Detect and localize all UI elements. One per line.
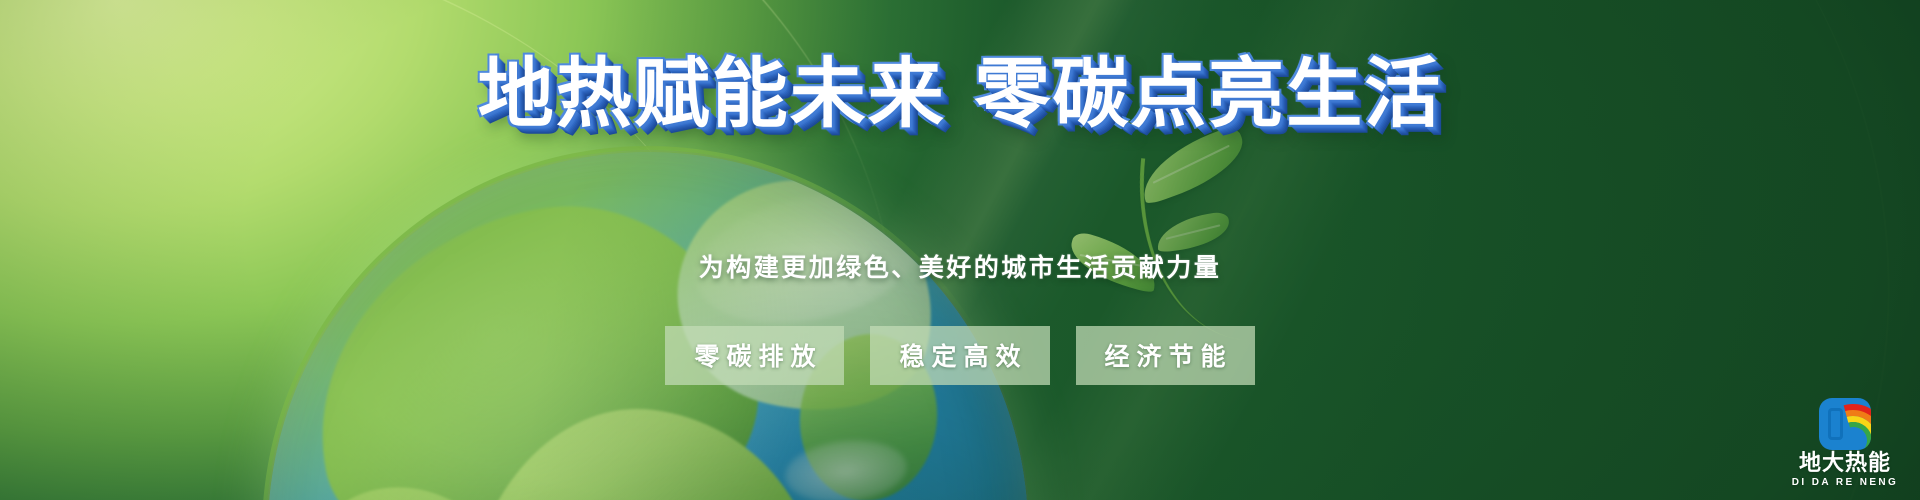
feature-badge-zero-carbon[interactable]: 零碳排放 xyxy=(665,326,844,385)
promo-banner: 地热赋能未来 零碳点亮生活 为构建更加绿色、美好的城市生活贡献力量 零碳排放 稳… xyxy=(0,0,1920,500)
feature-badge-stable-efficient[interactable]: 稳定高效 xyxy=(870,326,1049,385)
feature-badge-economic-saving[interactable]: 经济节能 xyxy=(1076,326,1255,385)
rainbow-arc-icon xyxy=(1819,398,1871,450)
banner-subtitle: 为构建更加绿色、美好的城市生活贡献力量 xyxy=(0,248,1920,284)
feature-badge-list: 零碳排放 稳定高效 经济节能 xyxy=(0,326,1920,385)
logo-name-cn: 地大热能 xyxy=(1779,452,1911,475)
banner-headline: 地热赋能未来 零碳点亮生活 xyxy=(0,56,1920,132)
logo-name-en: DI DA RE NENG xyxy=(1779,477,1911,488)
company-logo[interactable]: 地大热能 DI DA RE NENG xyxy=(1779,398,1911,498)
